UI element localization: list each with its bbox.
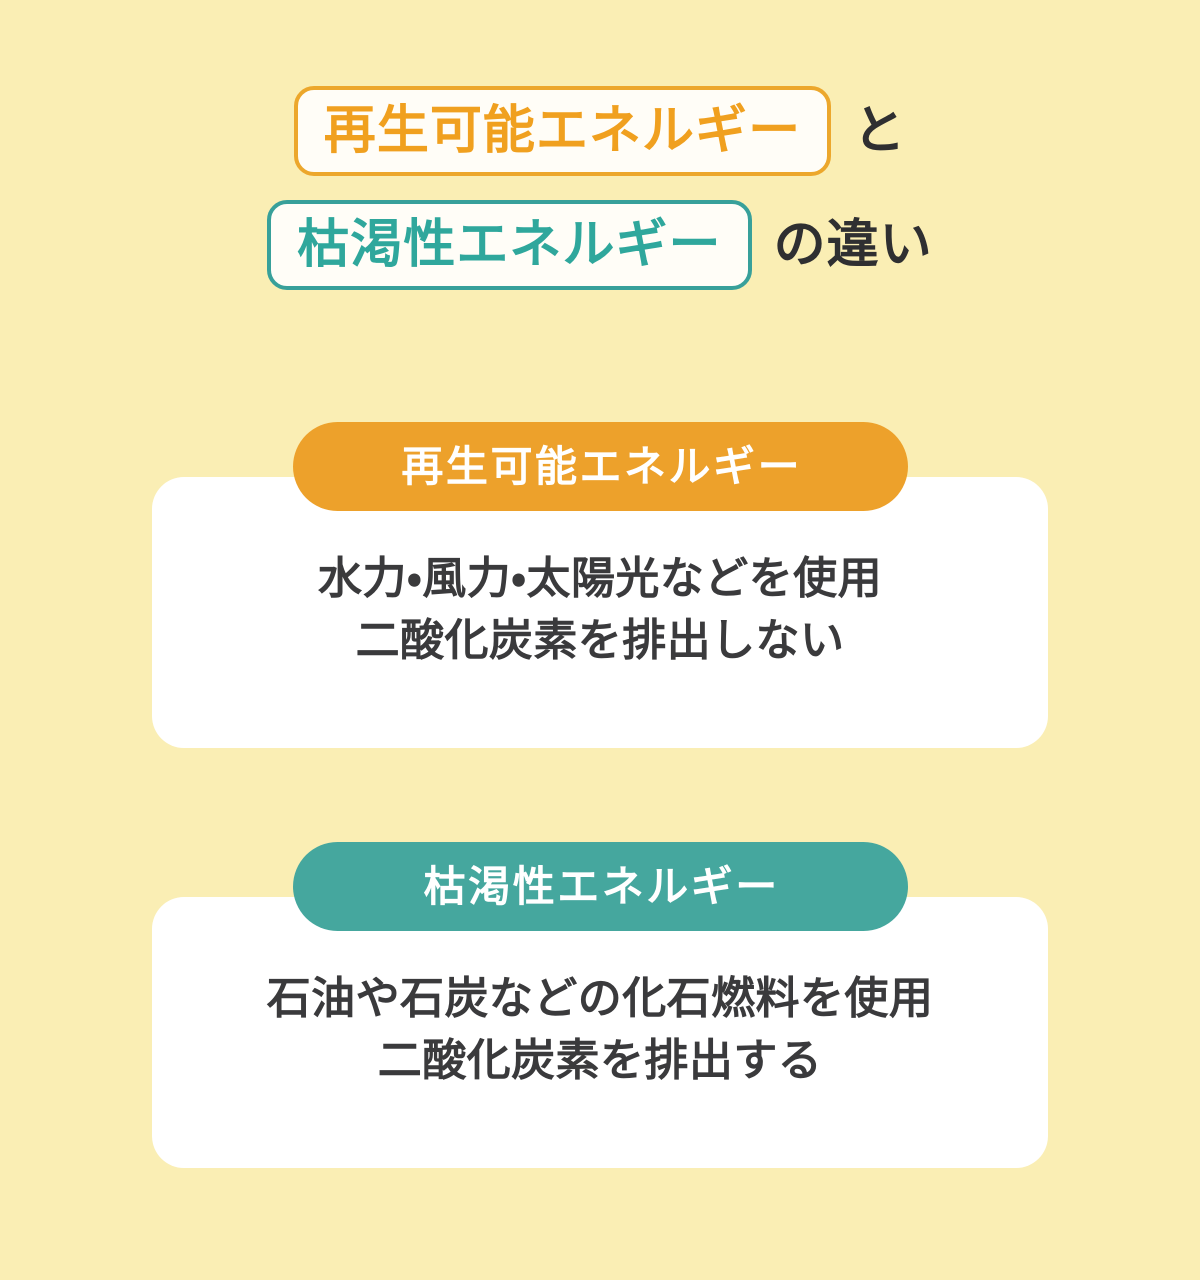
title-chip-renewable: 再生可能エネルギー [294, 86, 831, 176]
title-line-2: 枯渇性エネルギー の違い [0, 200, 1200, 290]
card-renewable-energy: 再生可能エネルギー 水力・風力・太陽光などを使用 二酸化炭素を排出しない [152, 477, 1048, 748]
card-renewable-header-label: 再生可能エネルギー [399, 446, 802, 488]
card-depletable-header: 枯渇性エネルギー [293, 842, 908, 931]
card-depletable-body-line-1: 石油や石炭などの化石燃料を使用 [152, 968, 1048, 1030]
card-depletable-body: 石油や石炭などの化石燃料を使用 二酸化炭素を排出する [152, 968, 1048, 1093]
energy-comparison-infographic: 再生可能エネルギー と 枯渇性エネルギー の違い 再生可能エネルギー 水力・風力… [0, 0, 1200, 1280]
card-renewable-body: 水力・風力・太陽光などを使用 二酸化炭素を排出しない [152, 548, 1048, 673]
page-title: 再生可能エネルギー と 枯渇性エネルギー の違い [0, 86, 1200, 290]
card-renewable-body-line-1: 水力・風力・太陽光などを使用 [152, 548, 1048, 610]
title-conjunction: と [853, 105, 906, 157]
card-depletable-body-line-2: 二酸化炭素を排出する [152, 1030, 1048, 1092]
card-renewable-body-line-2: 二酸化炭素を排出しない [152, 610, 1048, 672]
card-renewable-header: 再生可能エネルギー [293, 422, 908, 511]
card-depletable-header-label: 枯渇性エネルギー [421, 866, 780, 908]
title-suffix: の違い [774, 219, 933, 271]
title-chip-depletable: 枯渇性エネルギー [267, 200, 751, 290]
title-line-1: 再生可能エネルギー と [0, 86, 1200, 176]
card-depletable-energy: 枯渇性エネルギー 石油や石炭などの化石燃料を使用 二酸化炭素を排出する [152, 897, 1048, 1168]
